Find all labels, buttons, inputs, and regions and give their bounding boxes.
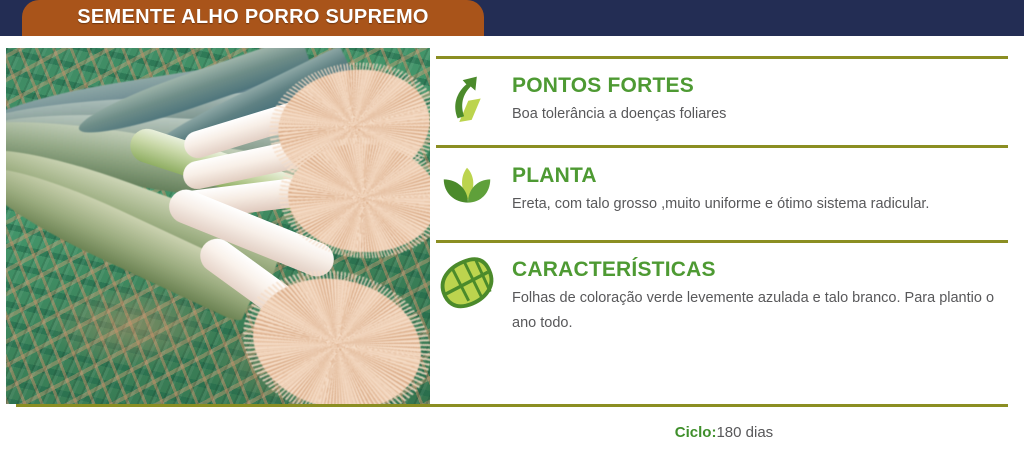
section-text: PONTOS FORTES Boa tolerância a doenças f… <box>512 68 726 127</box>
product-info-card: SEMENTE ALHO PORRO SUPREMO <box>0 0 1024 466</box>
page-title: SEMENTE ALHO PORRO SUPREMO <box>77 6 429 29</box>
leek-bunch-photo <box>6 48 430 404</box>
cycle-value: 180 dias <box>716 424 773 441</box>
divider-top <box>436 56 1008 59</box>
card-body: PONTOS FORTES Boa tolerância a doenças f… <box>0 36 1024 466</box>
product-title-tab: SEMENTE ALHO PORRO SUPREMO <box>22 0 484 36</box>
section-description: Folhas de coloração verde levemente azul… <box>512 286 1012 336</box>
section-description: Ereta, com talo grosso ,muito uniforme e… <box>512 192 929 217</box>
divider-2 <box>436 240 1008 243</box>
divider-1 <box>436 145 1008 148</box>
leek-roots <box>284 139 430 257</box>
divider-bottom <box>16 404 1008 407</box>
section-planta: PLANTA Ereta, com talo grosso ,muito uni… <box>436 158 1012 222</box>
section-text: CARACTERÍSTICAS Folhas de coloração verd… <box>512 252 1012 336</box>
section-pontos-fortes: PONTOS FORTES Boa tolerância a doenças f… <box>436 68 1012 132</box>
three-leaves-icon <box>436 158 506 222</box>
section-caracteristicas: CARACTERÍSTICAS Folhas de coloração verd… <box>436 252 1012 336</box>
section-heading: PONTOS FORTES <box>512 74 726 98</box>
growth-arrow-icon <box>436 68 506 132</box>
leaf-veins-icon <box>436 252 506 316</box>
section-heading: CARACTERÍSTICAS <box>512 258 1012 282</box>
cycle-label: Ciclo: <box>675 424 717 441</box>
section-text: PLANTA Ereta, com talo grosso ,muito uni… <box>512 158 929 217</box>
cycle-row: Ciclo:180 dias <box>436 424 1012 442</box>
section-description: Boa tolerância a doenças foliares <box>512 102 726 127</box>
section-heading: PLANTA <box>512 164 929 188</box>
